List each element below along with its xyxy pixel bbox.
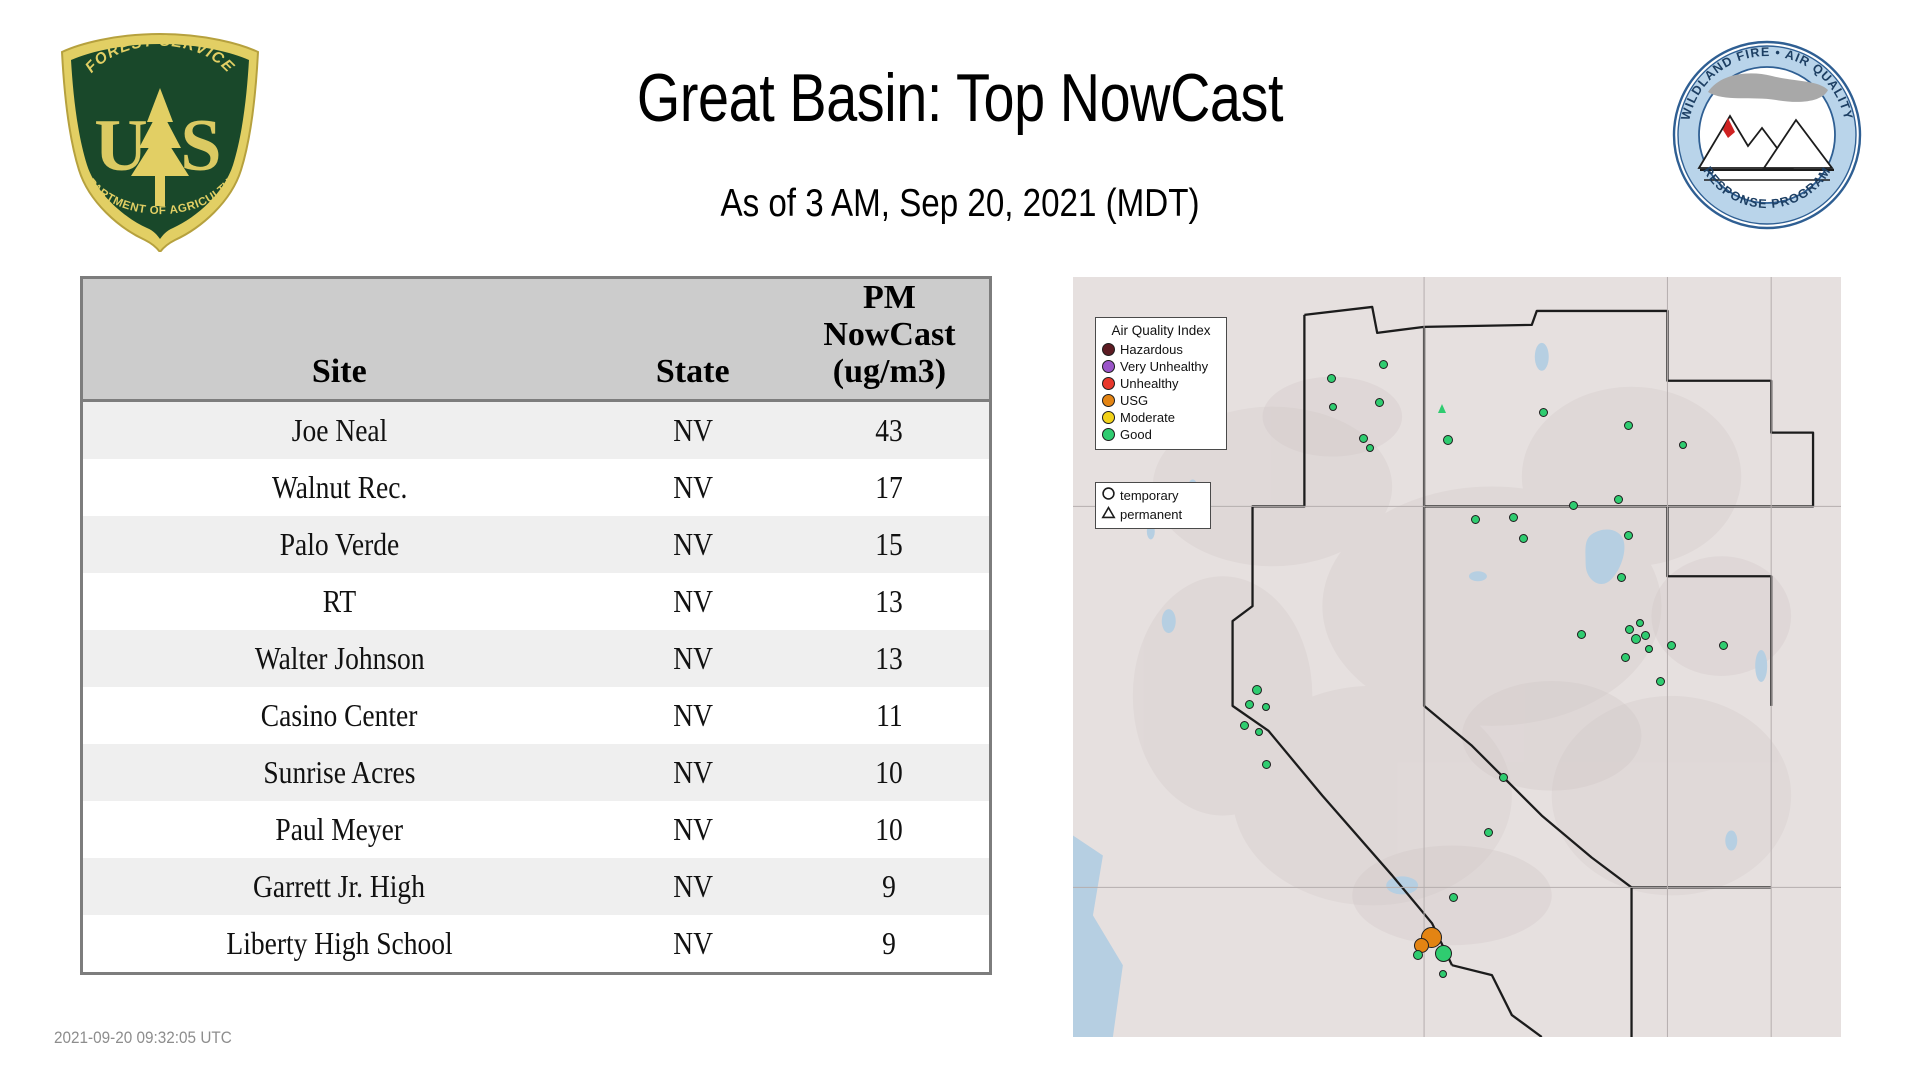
cell-site: Paul Meyer bbox=[83, 801, 596, 858]
cell-pm-nowcast: 17 bbox=[790, 459, 989, 516]
monitor-point-temporary[interactable] bbox=[1624, 531, 1633, 540]
table-row: Joe NealNV43 bbox=[83, 401, 989, 460]
cell-pm-nowcast: 11 bbox=[790, 687, 989, 744]
page-subtitle: As of 3 AM, Sep 20, 2021 (MDT) bbox=[144, 182, 1776, 226]
monitor-point-temporary[interactable] bbox=[1262, 703, 1270, 711]
monitor-point-temporary[interactable] bbox=[1245, 700, 1254, 709]
monitor-point-temporary[interactable] bbox=[1375, 398, 1384, 407]
monitor-point-temporary[interactable] bbox=[1625, 625, 1634, 634]
cell-state: NV bbox=[596, 401, 790, 460]
aqi-color-swatch-icon bbox=[1102, 377, 1115, 390]
monitor-point-temporary[interactable] bbox=[1614, 495, 1623, 504]
site-type-temporary: temporary bbox=[1101, 486, 1205, 505]
table-row: Walnut Rec.NV17 bbox=[83, 459, 989, 516]
table-body: Joe NealNV43Walnut Rec.NV17Palo VerdeNV1… bbox=[83, 401, 989, 973]
site-type-legend: temporary permanent bbox=[1095, 482, 1211, 529]
table-row: Sunrise AcresNV10 bbox=[83, 744, 989, 801]
column-header-state: State bbox=[596, 279, 790, 401]
cell-state: NV bbox=[596, 801, 790, 858]
cell-state: NV bbox=[596, 573, 790, 630]
cell-state: NV bbox=[596, 744, 790, 801]
monitor-point-temporary[interactable] bbox=[1443, 435, 1453, 445]
monitor-point-temporary[interactable] bbox=[1667, 641, 1676, 650]
aqi-legend-item: Very Unhealthy bbox=[1102, 358, 1220, 375]
aqi-legend-item: Hazardous bbox=[1102, 341, 1220, 358]
monitor-point-temporary[interactable] bbox=[1645, 645, 1653, 653]
cell-pm-nowcast: 43 bbox=[790, 401, 989, 460]
aqi-color-swatch-icon bbox=[1102, 360, 1115, 373]
table-row: Paul MeyerNV10 bbox=[83, 801, 989, 858]
circle-icon bbox=[1101, 486, 1116, 506]
table-row: Casino CenterNV11 bbox=[83, 687, 989, 744]
aqi-legend-item: Good bbox=[1102, 426, 1220, 443]
pm-header-line-2: NowCast bbox=[823, 316, 955, 353]
monitor-point-temporary[interactable] bbox=[1413, 950, 1423, 960]
aqi-legend-item: Unhealthy bbox=[1102, 375, 1220, 392]
cell-pm-nowcast: 9 bbox=[790, 858, 989, 915]
monitor-point-temporary[interactable] bbox=[1519, 534, 1528, 543]
table-header: Site State PM NowCast (ug/m3) bbox=[83, 279, 989, 401]
pm-header-line-1: PM bbox=[863, 279, 916, 316]
monitor-point-temporary[interactable] bbox=[1577, 630, 1586, 639]
table-header-row: Site State PM NowCast (ug/m3) bbox=[83, 279, 989, 401]
monitor-point-temporary[interactable] bbox=[1252, 685, 1262, 695]
cell-state: NV bbox=[596, 516, 790, 573]
monitor-point-temporary[interactable] bbox=[1621, 653, 1630, 662]
monitor-point-temporary[interactable] bbox=[1656, 677, 1665, 686]
monitor-point-temporary[interactable] bbox=[1539, 408, 1548, 417]
aqi-color-swatch-icon bbox=[1102, 394, 1115, 407]
cell-site: Garrett Jr. High bbox=[83, 858, 596, 915]
aqi-legend-label: Moderate bbox=[1120, 409, 1175, 426]
cell-site: Palo Verde bbox=[83, 516, 596, 573]
great-basin-map[interactable]: Air Quality Index HazardousVery Unhealth… bbox=[1072, 276, 1842, 1038]
cell-state: NV bbox=[596, 915, 790, 972]
table-row: Walter JohnsonNV13 bbox=[83, 630, 989, 687]
cell-state: NV bbox=[596, 630, 790, 687]
monitor-point-temporary[interactable] bbox=[1499, 773, 1508, 782]
monitor-point-permanent[interactable] bbox=[1438, 404, 1446, 413]
site-type-temporary-label: temporary bbox=[1120, 486, 1179, 505]
nowcast-table: Site State PM NowCast (ug/m3) Joe NealNV… bbox=[80, 276, 992, 975]
cell-site: Walter Johnson bbox=[83, 630, 596, 687]
table-row: Liberty High SchoolNV9 bbox=[83, 915, 989, 972]
cell-pm-nowcast: 10 bbox=[790, 801, 989, 858]
aqi-color-swatch-icon bbox=[1102, 343, 1115, 356]
monitor-point-temporary[interactable] bbox=[1255, 728, 1263, 736]
monitor-point-temporary[interactable] bbox=[1379, 360, 1388, 369]
monitor-point-temporary[interactable] bbox=[1240, 721, 1249, 730]
aqi-color-swatch-icon bbox=[1102, 428, 1115, 441]
cell-pm-nowcast: 15 bbox=[790, 516, 989, 573]
table-row: Garrett Jr. HighNV9 bbox=[83, 858, 989, 915]
aqi-legend-label: Good bbox=[1120, 426, 1152, 443]
cell-pm-nowcast: 13 bbox=[790, 630, 989, 687]
monitor-point-temporary[interactable] bbox=[1366, 444, 1374, 452]
aqi-legend-items: HazardousVery UnhealthyUnhealthyUSGModer… bbox=[1102, 341, 1220, 443]
aqi-legend-item: Moderate bbox=[1102, 409, 1220, 426]
monitor-point-temporary[interactable] bbox=[1439, 970, 1447, 978]
monitor-point-temporary[interactable] bbox=[1471, 515, 1480, 524]
table-row: Palo VerdeNV15 bbox=[83, 516, 989, 573]
aqi-color-swatch-icon bbox=[1102, 411, 1115, 424]
cell-state: NV bbox=[596, 858, 790, 915]
monitor-point-temporary[interactable] bbox=[1624, 421, 1633, 430]
cell-state: NV bbox=[596, 687, 790, 744]
table-row: RTNV13 bbox=[83, 573, 989, 630]
column-header-site: Site bbox=[83, 279, 596, 401]
aqi-legend-label: Unhealthy bbox=[1120, 375, 1179, 392]
cell-state: NV bbox=[596, 459, 790, 516]
monitor-point-temporary[interactable] bbox=[1509, 513, 1518, 522]
cell-site: Joe Neal bbox=[83, 401, 596, 460]
monitor-point-temporary[interactable] bbox=[1435, 945, 1452, 962]
monitor-point-temporary[interactable] bbox=[1449, 893, 1458, 902]
cell-pm-nowcast: 13 bbox=[790, 573, 989, 630]
generation-timestamp: 2021-09-20 09:32:05 UTC bbox=[54, 1028, 232, 1048]
aqi-legend-label: Very Unhealthy bbox=[1120, 358, 1208, 375]
monitor-point-temporary[interactable] bbox=[1484, 828, 1493, 837]
cell-pm-nowcast: 9 bbox=[790, 915, 989, 972]
monitor-point-temporary[interactable] bbox=[1617, 573, 1626, 582]
monitor-point-temporary[interactable] bbox=[1329, 403, 1337, 411]
aqi-legend: Air Quality Index HazardousVery Unhealth… bbox=[1095, 317, 1227, 450]
site-type-permanent: permanent bbox=[1101, 505, 1205, 524]
cell-site: Casino Center bbox=[83, 687, 596, 744]
monitor-point-temporary[interactable] bbox=[1719, 641, 1728, 650]
aqi-legend-item: USG bbox=[1102, 392, 1220, 409]
monitor-point-temporary[interactable] bbox=[1262, 760, 1271, 769]
nowcast-report-page: US FOREST SERVICE DEPARTMENT OF AGRICULT… bbox=[0, 0, 1920, 1080]
monitor-point-temporary[interactable] bbox=[1569, 501, 1578, 510]
aqi-legend-label: USG bbox=[1120, 392, 1148, 409]
monitor-point-temporary[interactable] bbox=[1641, 631, 1650, 640]
monitor-point-temporary[interactable] bbox=[1327, 374, 1336, 383]
cell-site: Walnut Rec. bbox=[83, 459, 596, 516]
aqi-legend-title: Air Quality Index bbox=[1102, 323, 1220, 339]
cell-site: Sunrise Acres bbox=[83, 744, 596, 801]
monitor-point-temporary[interactable] bbox=[1679, 441, 1687, 449]
site-type-permanent-label: permanent bbox=[1120, 505, 1182, 524]
column-header-pm-nowcast: PM NowCast (ug/m3) bbox=[790, 279, 989, 401]
triangle-icon bbox=[1101, 505, 1116, 525]
monitor-point-temporary[interactable] bbox=[1359, 434, 1368, 443]
cell-site: Liberty High School bbox=[83, 915, 596, 972]
aqi-legend-label: Hazardous bbox=[1120, 341, 1183, 358]
cell-pm-nowcast: 10 bbox=[790, 744, 989, 801]
pm-header-line-3: (ug/m3) bbox=[833, 353, 946, 390]
monitor-point-temporary[interactable] bbox=[1631, 634, 1641, 644]
page-title: Great Basin: Top NowCast bbox=[173, 60, 1747, 136]
cell-site: RT bbox=[83, 573, 596, 630]
monitor-point-temporary[interactable] bbox=[1636, 619, 1644, 627]
